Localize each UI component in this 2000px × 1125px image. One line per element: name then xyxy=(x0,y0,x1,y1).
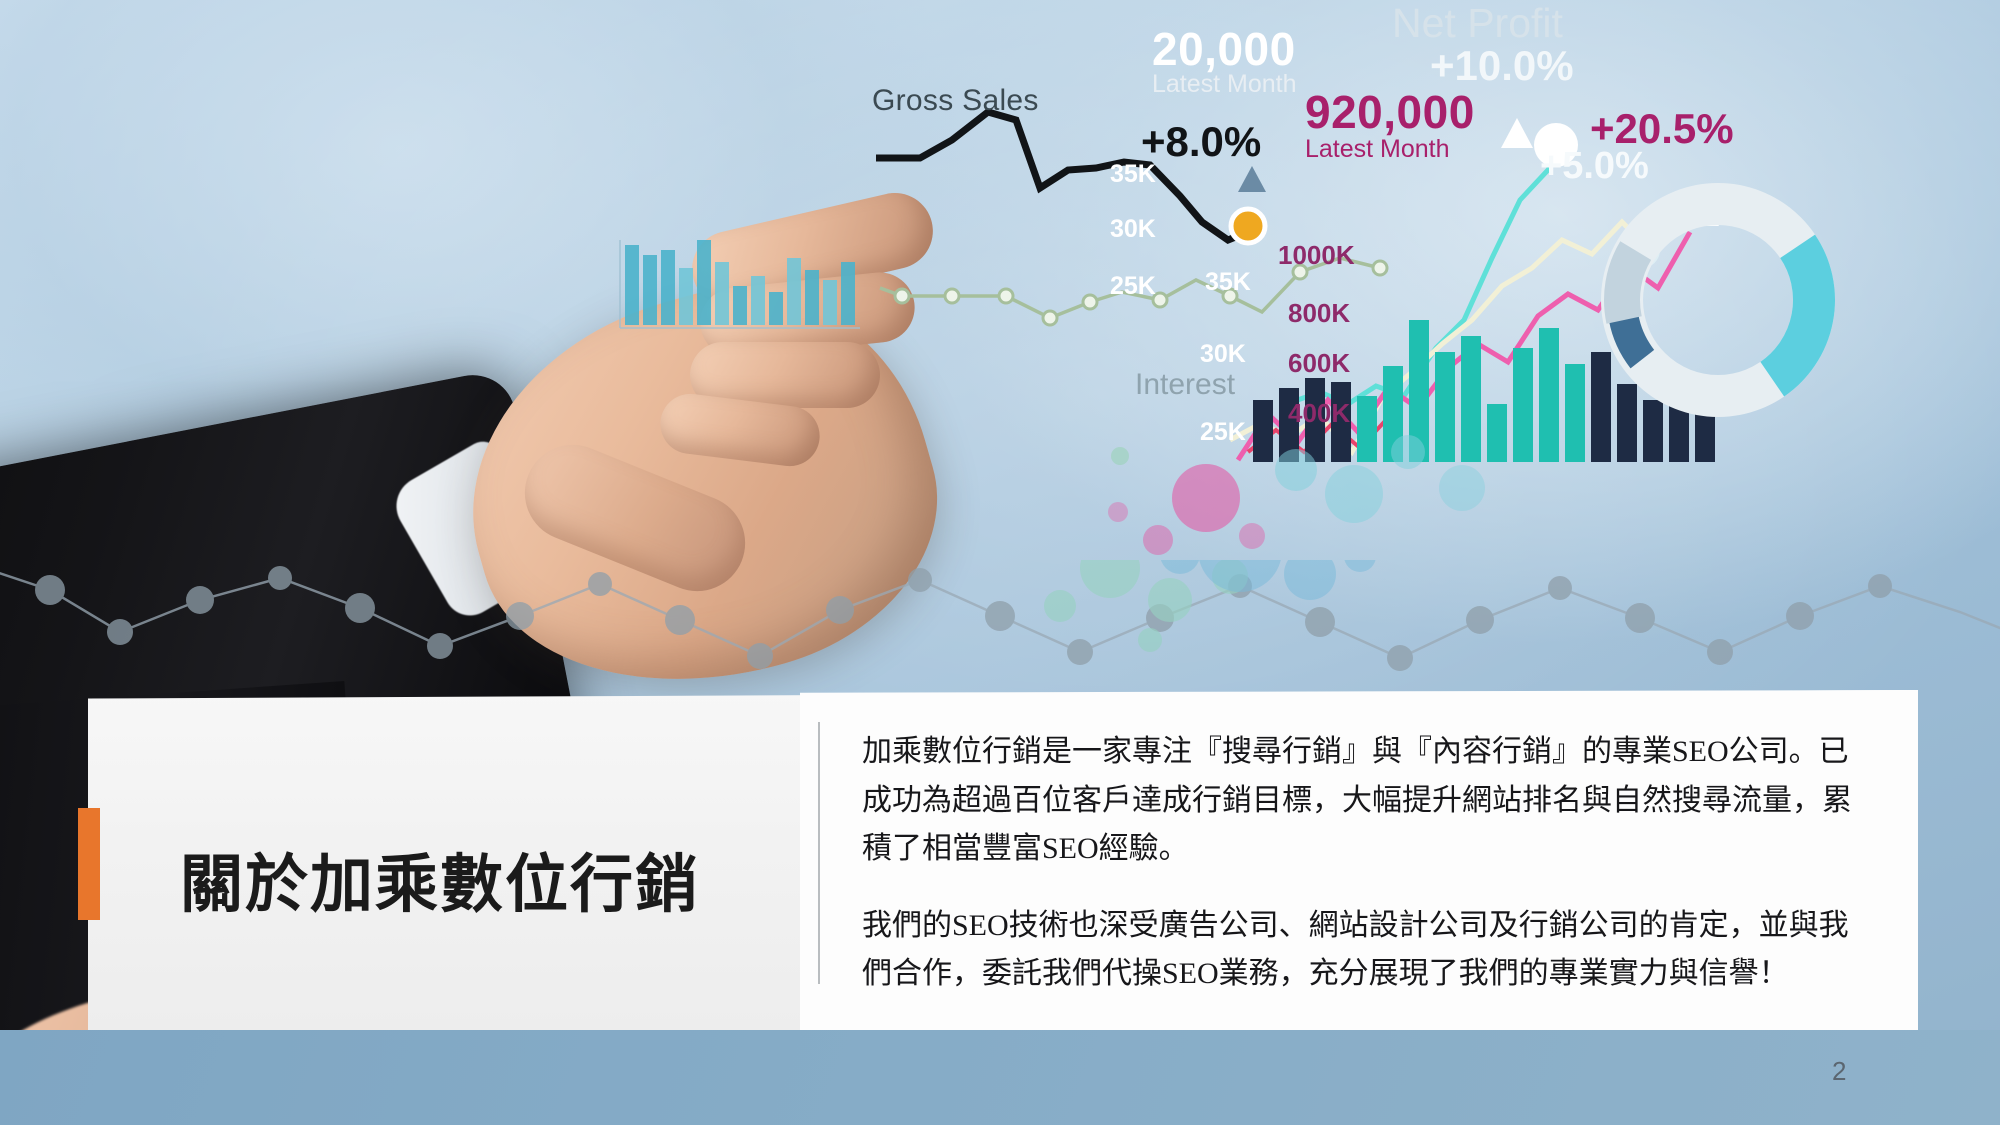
marker-triangle-blue xyxy=(1238,166,1266,192)
axis-tick-30k-primary: 30K xyxy=(1110,215,1156,244)
latest-month-caption: Latest Month xyxy=(1152,70,1297,99)
axis-tick-1000k: 1000K xyxy=(1278,240,1355,271)
body-text: 加乘數位行銷是一家專注『搜尋行銷』與『內容行銷』的專業SEO公司。已成功為超過百… xyxy=(862,728,1872,999)
net-profit-label: Net Profit xyxy=(1392,0,1563,47)
axis-tick-25k-secondary: 25K xyxy=(1200,418,1246,447)
page-title: 關於加乘數位行銷 xyxy=(180,854,770,917)
gross-sales-label: Gross Sales xyxy=(872,84,1039,118)
growth-10-label: +10.0% xyxy=(1430,42,1574,90)
latest-month-value: 20,000 xyxy=(1152,22,1296,76)
growth-8-label: +8.0% xyxy=(1141,118,1261,166)
axis-tick-35k-secondary: 35K xyxy=(1205,268,1251,297)
profit-value: 920,000 xyxy=(1305,85,1475,139)
analytics-graphics: Gross Sales 20,000 Latest Month +8.0% Ne… xyxy=(0,0,2000,560)
body-paragraph-2: 我們的SEO技術也深受廣告公司、網站設計公司及行銷公司的肯定，並與我們合作，委託… xyxy=(862,902,1872,999)
bar-cluster-left xyxy=(620,240,860,328)
vertical-divider xyxy=(818,722,820,984)
axis-tick-30k-secondary: 30K xyxy=(1200,340,1246,369)
body-paragraph-1: 加乘數位行銷是一家專注『搜尋行銷』與『內容行銷』的專業SEO公司。已成功為超過百… xyxy=(862,728,1872,874)
marker-triangle-white xyxy=(1501,118,1533,148)
interest-label: Interest xyxy=(1135,368,1235,402)
marker-orange xyxy=(1231,209,1265,243)
axis-tick-400k: 400K xyxy=(1288,398,1350,429)
axis-tick-800k: 800K xyxy=(1288,298,1350,329)
slide-root: Gross Sales 20,000 Latest Month +8.0% Ne… xyxy=(0,0,2000,1125)
axis-tick-600k: 600K xyxy=(1288,348,1350,379)
axis-tick-25k-primary: 25K xyxy=(1110,272,1156,301)
bottom-band xyxy=(0,1030,2000,1125)
axis-tick-35k-primary: 35K xyxy=(1110,160,1156,189)
growth-5-label: +5.0% xyxy=(1540,145,1649,188)
profit-caption: Latest Month xyxy=(1305,135,1450,164)
accent-bar xyxy=(78,808,100,920)
page-number: 2 xyxy=(1832,1056,1846,1087)
